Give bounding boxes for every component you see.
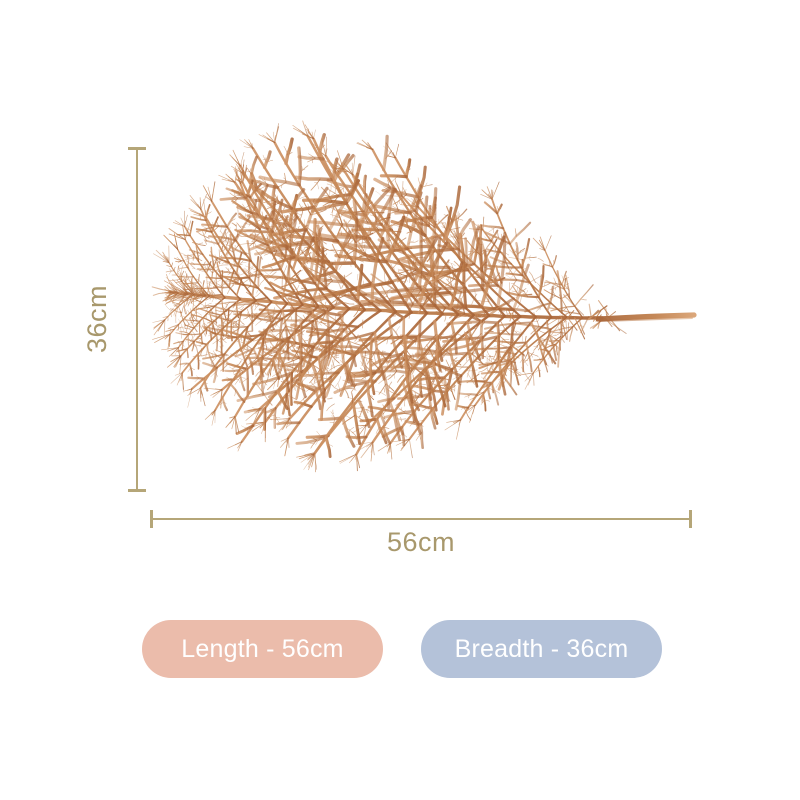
leaf-vein-network	[152, 121, 626, 472]
spec-badge-group: Length - 56cm Breadth - 36cm	[142, 620, 662, 678]
spec-badge-length[interactable]: Length - 56cm	[142, 620, 383, 678]
length-dimension-line	[151, 518, 691, 520]
length-dimension-label: 56cm	[0, 527, 800, 558]
skeleton-leaf-illustration	[0, 0, 800, 800]
breadth-dimension-line	[136, 148, 138, 492]
leaf-stem	[598, 315, 694, 321]
length-dimension-cap-left	[150, 510, 153, 528]
product-dimension-figure: 36cm 56cm Length - 56cm Breadth - 36cm	[0, 0, 800, 800]
spec-badge-breadth-label: Breadth - 36cm	[455, 635, 629, 664]
spec-badge-breadth[interactable]: Breadth - 36cm	[421, 620, 662, 678]
spec-badge-length-label: Length - 56cm	[181, 635, 343, 664]
breadth-dimension-cap-top	[128, 147, 146, 150]
length-dimension-cap-right	[689, 510, 692, 528]
breadth-dimension-label: 36cm	[82, 285, 113, 353]
breadth-dimension-cap-bottom	[128, 489, 146, 492]
